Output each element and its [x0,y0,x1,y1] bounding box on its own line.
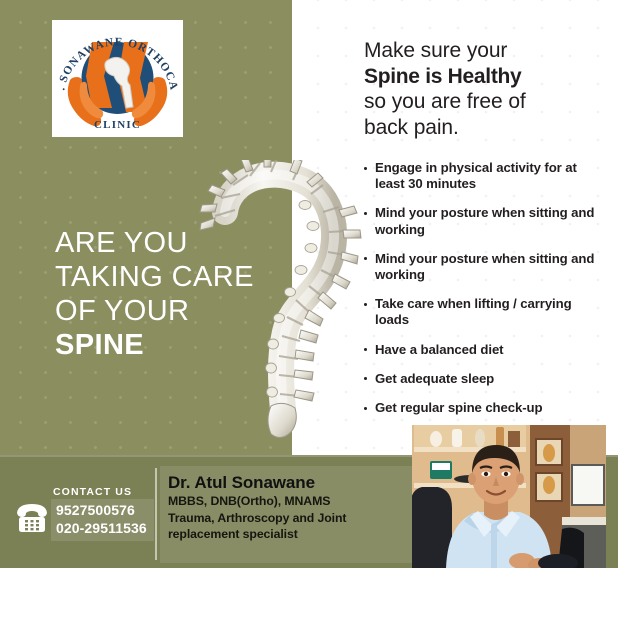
telephone-icon [12,497,52,535]
list-item: Take care when lifting / carrying loads [364,296,604,328]
phone-secondary[interactable]: 020-29511536 [56,520,148,538]
clinic-logo: DR. SONAWANE ORTHOCARE CLINIC [52,20,183,137]
doctor-photo-image [412,425,606,568]
list-item: Get regular spine check-up [364,400,604,416]
list-item: Engage in physical activity for at least… [364,160,604,192]
right-headline: Make sure your Spine is Healthy so you a… [364,38,604,140]
footer-vertical-divider [155,468,157,560]
doctor-photo [412,425,606,568]
phone-numbers: 9527500576 020-29511536 [51,499,154,541]
headline-line-3: OF YOUR [55,294,290,328]
phone-primary[interactable]: 9527500576 [56,502,148,520]
clinic-logo-graphic: DR. SONAWANE ORTHOCARE CLINIC [52,20,183,137]
headline-line-2: TAKING CARE [55,260,290,294]
right-headline-line-3: so you are free of [364,89,604,115]
doctor-name: Dr. Atul Sonawane [168,472,415,493]
right-headline-line-2: Spine is Healthy [364,64,604,90]
poster-root: DR. SONAWANE ORTHOCARE CLINIC [0,0,618,618]
list-item: Mind your posture when sitting and worki… [364,205,604,237]
right-headline-line-1: Make sure your [364,38,604,64]
list-item: Mind your posture when sitting and worki… [364,251,604,283]
telephone-icon-glyph [12,497,52,535]
right-content: Make sure your Spine is Healthy so you a… [364,38,604,429]
contact-us-label: CONTACT US [53,486,132,498]
doctor-specialty-line-2: replacement specialist [168,526,415,543]
doctor-qualifications: MBBS, DNB(Ortho), MNAMS [168,493,415,510]
doctor-details: Dr. Atul Sonawane MBBS, DNB(Ortho), MNAM… [160,466,415,563]
doctor-specialty-line-1: Trauma, Arthroscopy and Joint [168,510,415,527]
logo-bottom-text: CLINIC [94,119,141,131]
left-headline: ARE YOU TAKING CARE OF YOUR SPINE [55,226,290,362]
list-item: Get adequate sleep [364,371,604,387]
list-item: Have a balanced diet [364,342,604,358]
spine-tips-list: Engage in physical activity for at least… [364,160,604,416]
right-headline-line-4: back pain. [364,115,604,141]
headline-line-1: ARE YOU [55,226,290,260]
headline-line-4: SPINE [55,328,290,362]
